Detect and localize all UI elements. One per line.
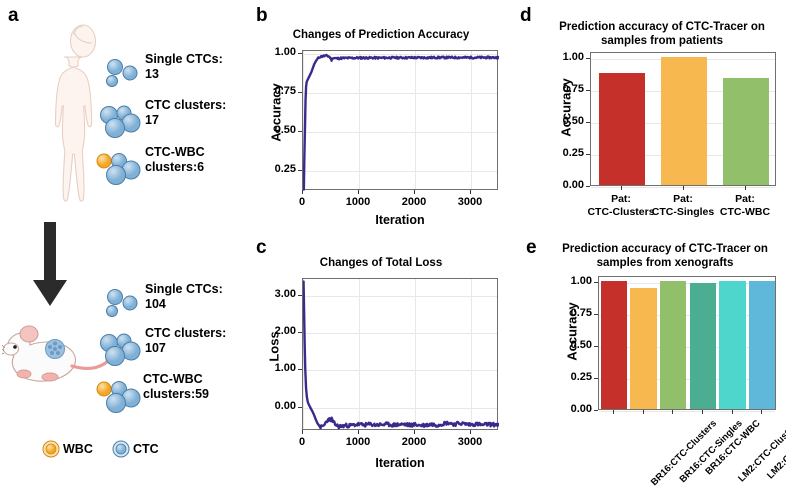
xenograft-single-ctc-label: Single CTCs: 104 [145,282,245,312]
x-tick-mark [761,410,762,414]
x-tick-mark [302,430,303,434]
y-tick-label: 0.50 [254,124,296,136]
y-tick-label: 0.25 [552,371,592,383]
panel-d-title: Prediction accuracy of CTC-Tracer on sam… [538,20,786,49]
x-tick-label: 0 [272,196,332,208]
series-line [303,279,499,431]
y-tick-mark [594,314,598,315]
panel-a-letter: a [8,6,19,25]
y-tick-label: 0.50 [552,339,592,351]
wbc-cell-icon [42,440,60,458]
x-tick-label: 1000 [328,196,388,208]
bar[interactable] [601,281,627,409]
x-category-label: Pat: CTC-Clusters [586,193,656,218]
patient-ctc-wbc-label: CTC-WBC clusters:6 [145,145,245,175]
panel-e-plot-area [598,276,776,410]
panel-b-letter: b [256,6,268,25]
y-tick-label: 0.75 [544,83,584,95]
panel-e: e Prediction accuracy of CTC-Tracer on s… [512,234,786,488]
down-arrow-icon [30,222,70,312]
y-tick-label: 0.75 [254,85,296,97]
bar[interactable] [723,78,769,185]
bar[interactable] [599,73,645,185]
panel-c-xlabel: Iteration [302,456,498,470]
y-tick-mark [594,282,598,283]
y-tick-label: 1.00 [254,46,296,58]
x-tick-mark [672,410,673,414]
y-tick-mark [298,295,302,296]
legend-label-ctc: CTC [133,442,159,456]
y-tick-mark [298,332,302,333]
y-tick-mark [298,53,302,54]
bar[interactable] [690,283,716,409]
x-tick-mark [470,190,471,194]
panel-d-plot-area [590,52,776,186]
ctc-wbc-cluster-icon-xenograft [94,378,146,421]
x-tick-label: 3000 [440,196,500,208]
x-tick-label: 0 [272,436,332,448]
y-tick-label: 1.00 [254,362,296,374]
x-tick-mark [745,186,746,190]
y-tick-label: 0.25 [544,147,584,159]
bar[interactable] [630,288,656,409]
panel-b: b Changes of Prediction Accuracy Accurac… [252,0,510,235]
y-tick-mark [586,122,590,123]
y-tick-label: 0.00 [544,179,584,191]
y-tick-label: 2.00 [254,325,296,337]
panel-c-letter: c [256,238,267,257]
x-tick-label: 3000 [440,436,500,448]
legend-label-wbc: WBC [63,442,93,456]
y-tick-mark [298,92,302,93]
gridline-horizontal [599,411,775,412]
x-tick-mark [613,410,614,414]
y-tick-mark [594,346,598,347]
panel-a: a [0,0,250,488]
y-tick-label: 1.00 [544,51,584,63]
y-tick-label: 1.00 [552,275,592,287]
panel-c-title: Changes of Total Loss [252,256,510,270]
ctc-cluster-icon-patient [98,104,146,145]
panel-b-plot-area [302,50,498,190]
ctc-cell-icon [112,440,130,458]
x-tick-mark [358,430,359,434]
y-tick-mark [586,186,590,187]
patient-single-ctc-label: Single CTCs: 13 [145,52,245,82]
panel-d-ylabel: Accuracy [559,70,574,146]
x-tick-mark [414,430,415,434]
x-tick-mark [414,190,415,194]
x-tick-mark [683,186,684,190]
y-tick-label: 3.00 [254,288,296,300]
x-tick-mark [702,410,703,414]
y-tick-mark [586,154,590,155]
y-tick-label: 0.75 [552,307,592,319]
x-tick-mark [643,410,644,414]
y-tick-mark [298,131,302,132]
ctc-single-cluster-icon-patient [101,58,143,95]
x-tick-mark [621,186,622,190]
panel-d-letter: d [520,6,532,25]
x-tick-label: 2000 [384,196,444,208]
x-tick-label: 2000 [384,436,444,448]
y-tick-mark [298,369,302,370]
panel-e-title: Prediction accuracy of CTC-Tracer on sam… [544,242,786,271]
figure-root: a [0,0,786,488]
bar[interactable] [661,57,707,185]
ctc-cluster-icon-xenograft [98,332,146,373]
panel-b-xlabel: Iteration [302,213,498,227]
patient-ctc-cluster-label: CTC clusters: 17 [145,98,245,128]
y-tick-mark [594,410,598,411]
y-tick-label: 0.50 [544,115,584,127]
x-category-label: Pat: CTC-Singles [648,193,718,218]
bar[interactable] [719,281,745,409]
x-tick-mark [302,190,303,194]
panel-d: d Prediction accuracy of CTC-Tracer on s… [512,0,786,235]
series-line [303,51,499,191]
x-tick-mark [470,430,471,434]
xenograft-ctc-cluster-label: CTC clusters: 107 [145,326,245,356]
y-tick-label: 0.00 [254,400,296,412]
x-tick-mark [732,410,733,414]
x-tick-label: 1000 [328,436,388,448]
y-tick-mark [586,90,590,91]
panel-e-letter: e [526,238,537,257]
panel-c: c Changes of Total Loss Loss Iteration 0… [252,234,510,488]
bar[interactable] [749,281,775,409]
panel-c-plot-area [302,278,498,430]
y-tick-label: 0.25 [254,163,296,175]
y-tick-mark [298,170,302,171]
panel-e-ylabel: Accuracy [565,294,580,370]
y-tick-mark [586,58,590,59]
y-tick-label: 0.00 [552,403,592,415]
x-category-label: Pat: CTC-WBC [710,193,780,218]
ctc-single-cluster-icon-xenograft [101,288,143,325]
y-tick-mark [594,378,598,379]
panel-b-title: Changes of Prediction Accuracy [252,28,510,42]
bar[interactable] [660,281,686,409]
y-tick-mark [298,407,302,408]
xenograft-ctc-wbc-label: CTC-WBC clusters:59 [143,372,247,402]
ctc-wbc-cluster-icon-patient [94,150,146,193]
x-tick-mark [358,190,359,194]
